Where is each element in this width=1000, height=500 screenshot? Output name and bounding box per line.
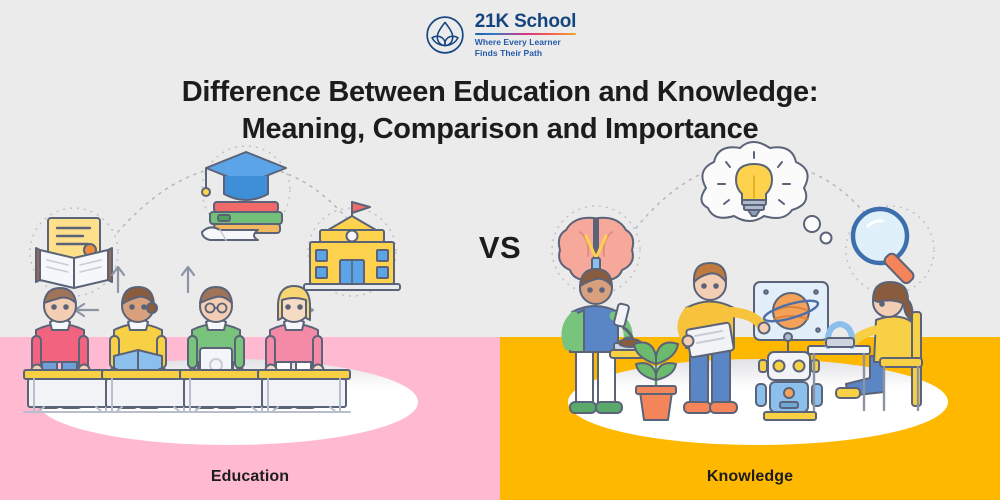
- brand-logo[interactable]: 21K School Where Every Learner Finds The…: [0, 12, 1000, 58]
- school-building-icon: [304, 202, 400, 290]
- poster-canvas: 21K School Where Every Learner Finds The…: [0, 0, 1000, 500]
- arrow-up-icon: [112, 267, 124, 292]
- desk-row: [24, 370, 350, 412]
- brand-name: 21K School: [475, 12, 576, 32]
- magnifying-glass-icon: [853, 209, 916, 285]
- education-caption: Education: [0, 468, 500, 486]
- open-book-icon: [36, 218, 112, 288]
- education-illustration: [10, 140, 480, 460]
- knowledge-illustration: [540, 140, 990, 460]
- arrow-left-icon: [75, 304, 98, 316]
- arrow-up-icon: [182, 267, 194, 292]
- page-title-line1: Difference Between Education and Knowled…: [0, 74, 1000, 111]
- brand-tagline: Where Every Learner Finds Their Path: [475, 37, 576, 58]
- page-title: Difference Between Education and Knowled…: [0, 74, 1000, 148]
- brand-text-block: 21K School Where Every Learner Finds The…: [475, 12, 576, 58]
- brand-tagline-line2: Finds Their Path: [475, 48, 576, 58]
- graduation-cap-books-icon: [202, 152, 286, 240]
- brand-gradient-rule: [475, 33, 576, 36]
- lightbulb-thought-cloud-icon: [701, 142, 831, 244]
- lotus-circle-icon: [424, 14, 466, 56]
- desk: [258, 370, 350, 412]
- knowledge-caption: Knowledge: [500, 468, 1000, 486]
- brand-tagline-line1: Where Every Learner: [475, 37, 576, 47]
